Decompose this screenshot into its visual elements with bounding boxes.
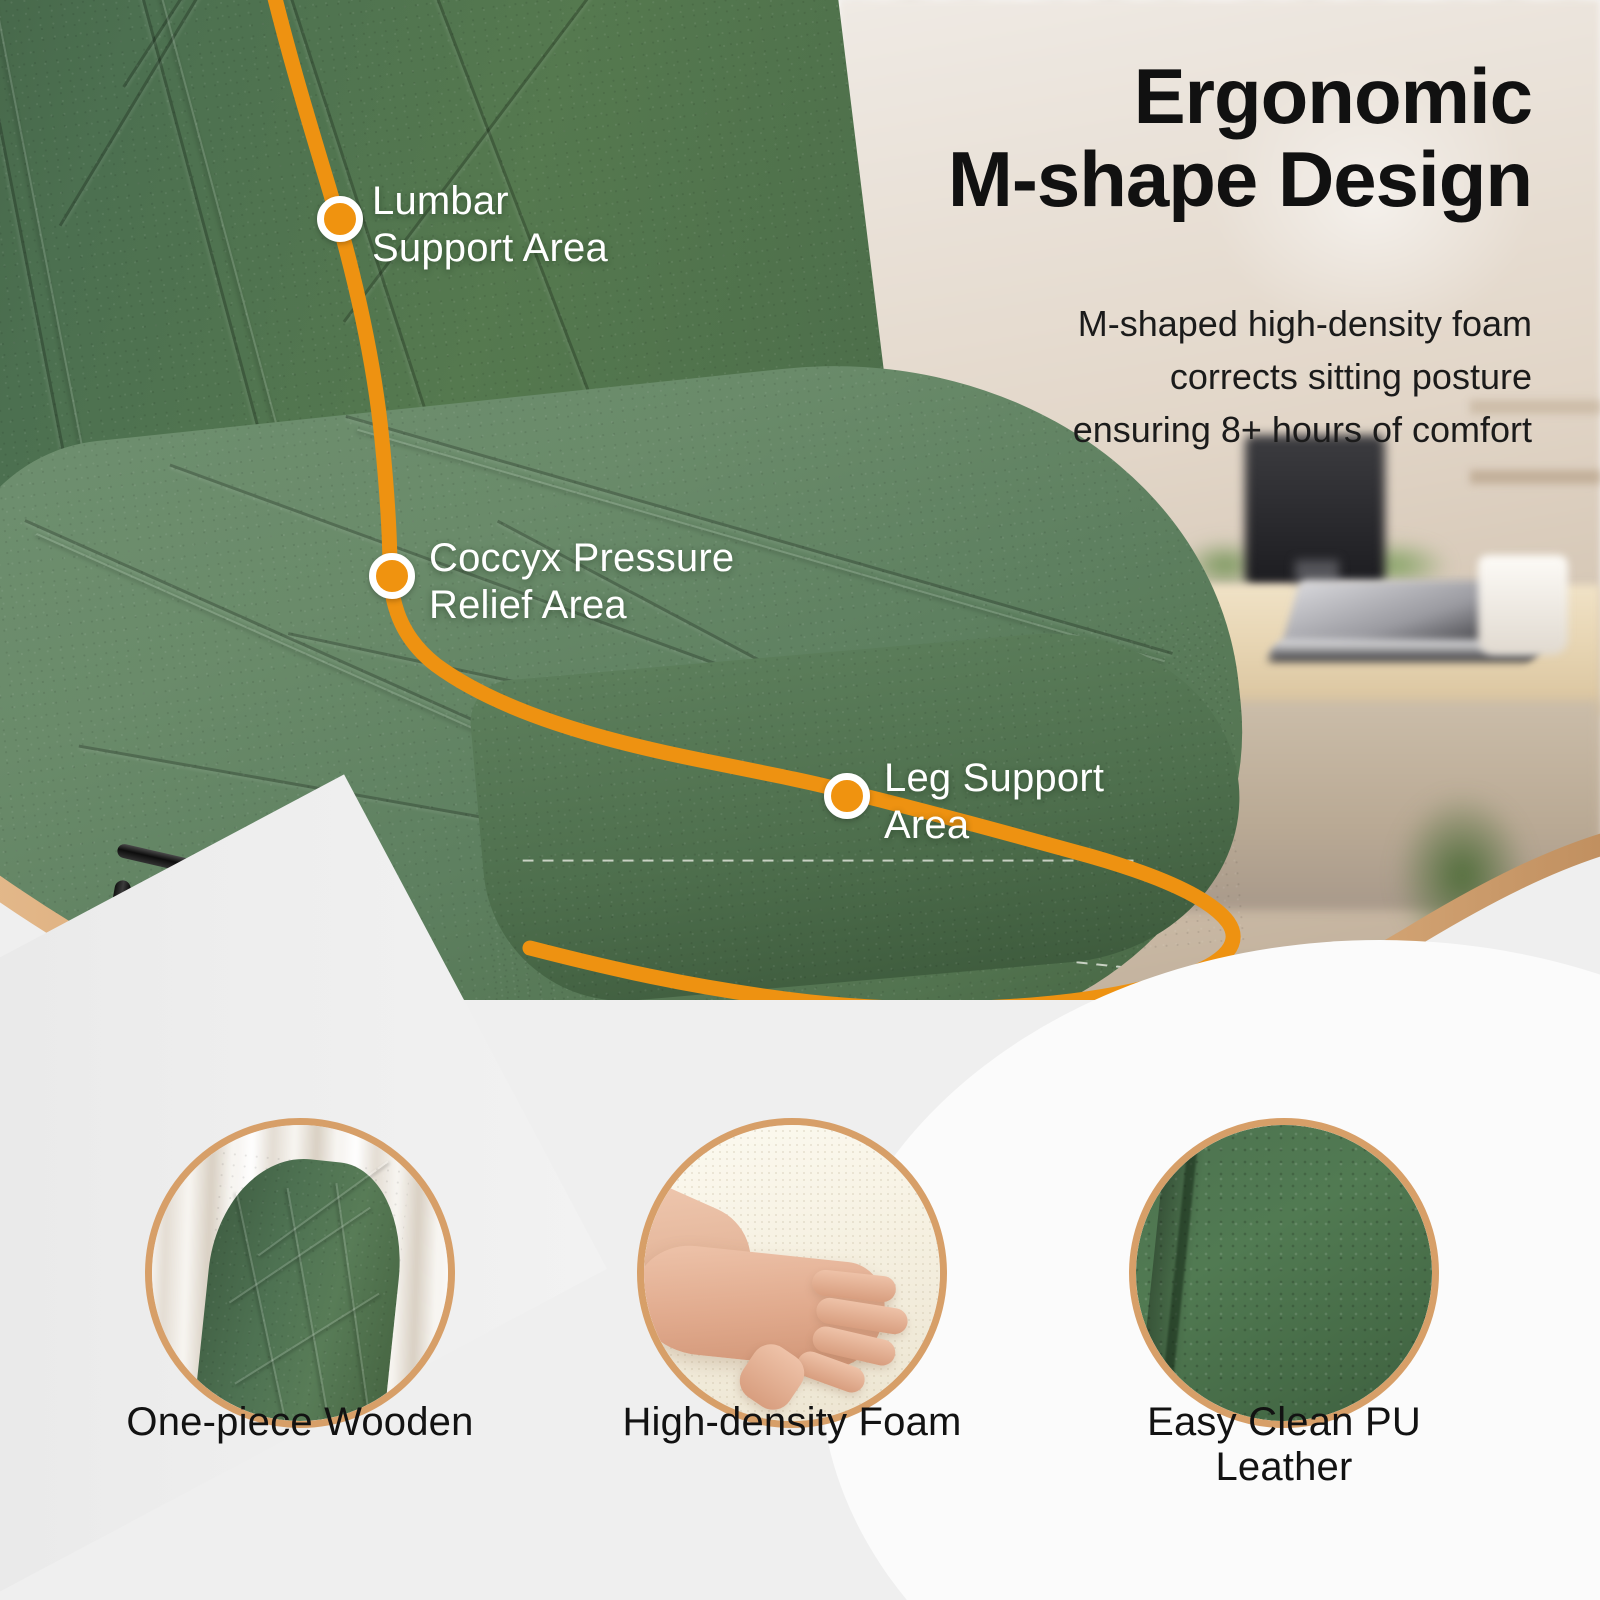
callout-coccyx-line2: Relief Area [429, 582, 734, 629]
callout-lumbar-line2: Support Area [372, 225, 608, 272]
thumb-one-piece-wooden-image [152, 1125, 448, 1421]
feature-thumb-high-density-foam[interactable] [637, 1118, 947, 1428]
thumb1-green-chair-back [188, 1150, 410, 1421]
callout-lumbar-line1: Lumbar [372, 178, 608, 225]
marker-lumbar[interactable] [317, 196, 363, 242]
caption-one-piece-wooden: One-piece Wooden [90, 1400, 510, 1445]
callout-coccyx: Coccyx Pressure Relief Area [429, 535, 734, 629]
features-section: One-piece Wooden High-density Foam Easy … [0, 1000, 1600, 1600]
coffee-mug [1478, 555, 1568, 655]
infographic-canvas: Lumbar Support Area Coccyx Pressure Reli… [0, 0, 1600, 1600]
page-title: Ergonomic M-shape Design [732, 55, 1532, 222]
caption-easy-clean-pu-leather: Easy Clean PU Leather [1074, 1400, 1494, 1490]
callout-leg-line1: Leg Support [884, 755, 1104, 802]
page-title-line2: M-shape Design [732, 138, 1532, 221]
page-subtitle-line2: corrects sitting posture [892, 351, 1532, 404]
feature-thumb-one-piece-wooden[interactable] [145, 1118, 455, 1428]
thumb-easy-clean-pu-leather-image [1136, 1125, 1432, 1421]
marker-coccyx[interactable] [369, 553, 415, 599]
page-subtitle: M-shaped high-density foam corrects sitt… [892, 298, 1532, 457]
page-subtitle-line1: M-shaped high-density foam [892, 298, 1532, 351]
callout-lumbar: Lumbar Support Area [372, 178, 608, 272]
page-title-line1: Ergonomic [732, 55, 1532, 138]
caption-high-density-foam: High-density Foam [582, 1400, 1002, 1445]
thumb-high-density-foam-image [644, 1125, 940, 1421]
marker-leg[interactable] [824, 773, 870, 819]
page-subtitle-line3: ensuring 8+ hours of comfort [892, 404, 1532, 457]
callout-coccyx-line1: Coccyx Pressure [429, 535, 734, 582]
thumb1-leather-texture [188, 1150, 410, 1421]
shelf-lower [1470, 470, 1600, 484]
feature-thumb-easy-clean-pu-leather[interactable] [1129, 1118, 1439, 1428]
